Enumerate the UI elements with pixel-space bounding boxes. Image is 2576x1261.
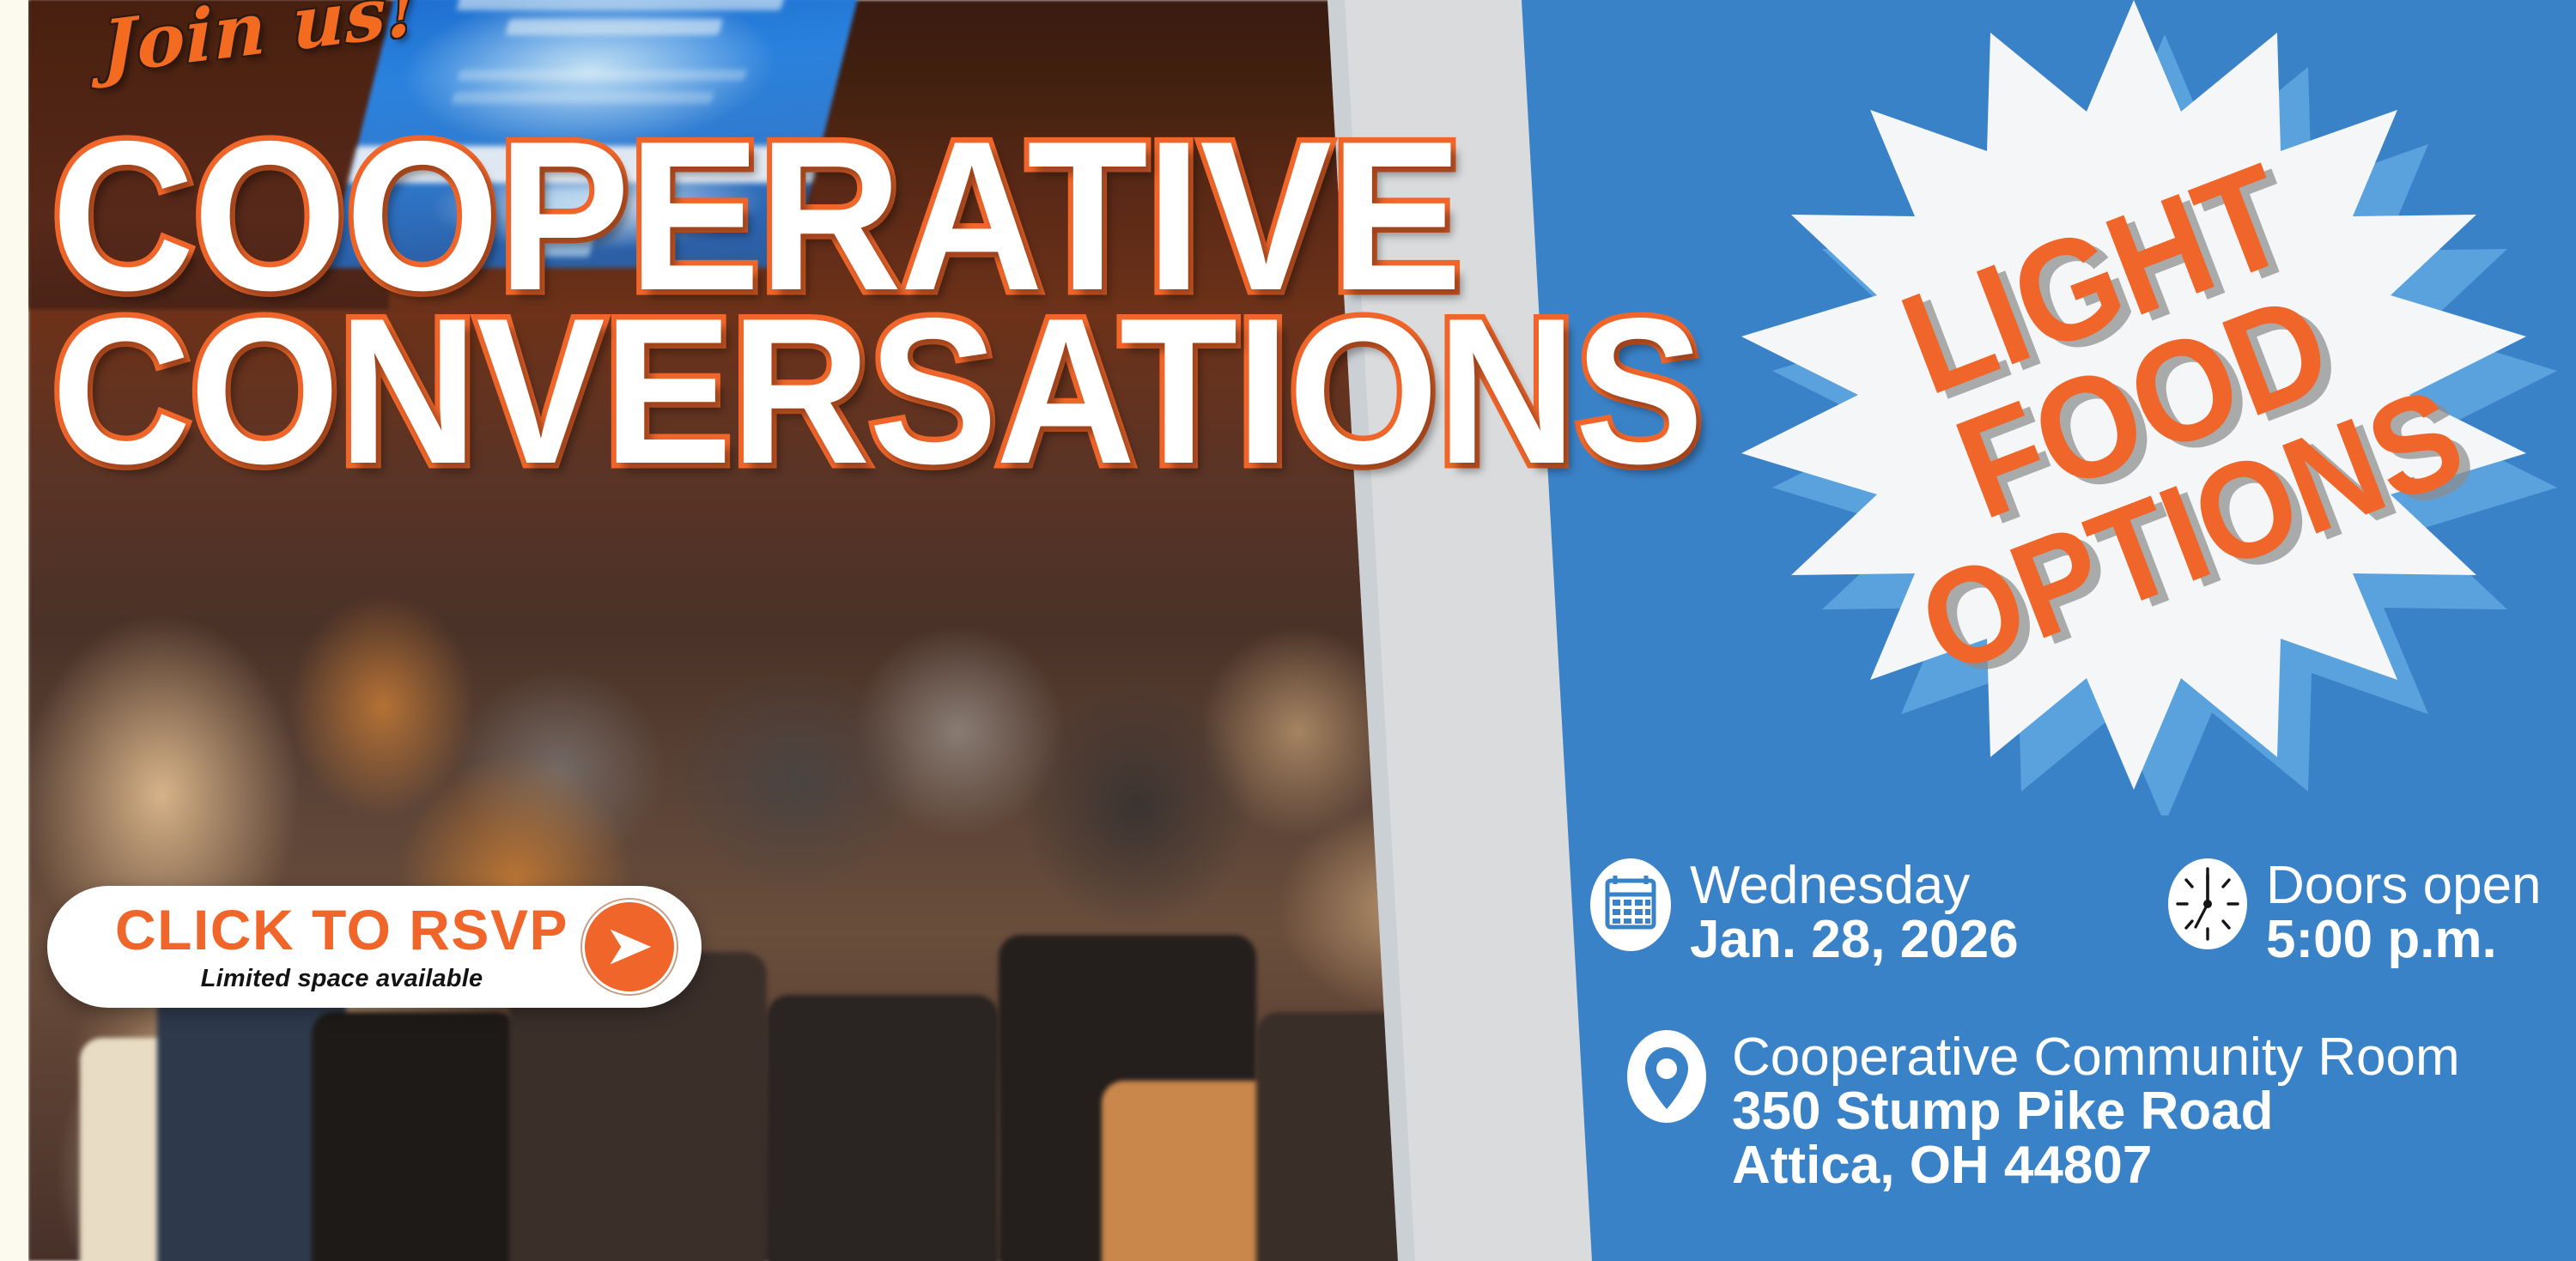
rsvp-button-text: CLICK TO RSVP Limited space available [47, 901, 585, 993]
detail-location: Cooperative Community Room 350 Stump Pik… [1627, 1030, 2460, 1193]
detail-location-text: Cooperative Community Room 350 Stump Pik… [1732, 1030, 2460, 1193]
detail-time: Doors open 5:00 p.m. [2168, 858, 2542, 967]
detail-date-value: Jan. 28, 2026 [1690, 912, 2019, 967]
detail-venue-name: Cooperative Community Room [1732, 1030, 2460, 1084]
detail-time-value: 5:00 p.m. [2266, 912, 2542, 967]
map-pin-icon [1627, 1030, 1706, 1127]
event-promo-banner: Join us! COOPERATIVE CONVERSATIONS CLICK… [0, 0, 2576, 1261]
headline-line-2: CONVERSATIONS [52, 305, 1702, 478]
detail-street-address: 350 Stump Pike Road [1732, 1084, 2460, 1138]
left-cream-border [0, 0, 28, 1261]
detail-date: Wednesday Jan. 28, 2026 [1590, 858, 2019, 967]
calendar-icon [1590, 858, 1671, 955]
detail-date-text: Wednesday Jan. 28, 2026 [1690, 858, 2019, 967]
audience-head [1256, 1012, 1505, 1261]
rsvp-button[interactable]: CLICK TO RSVP Limited space available [47, 886, 702, 1008]
send-arrow-icon[interactable] [585, 902, 674, 991]
detail-time-text: Doors open 5:00 p.m. [2266, 858, 2542, 967]
rsvp-button-label: CLICK TO RSVP [115, 901, 568, 958]
page-title: COOPERATIVE CONVERSATIONS [52, 127, 1826, 478]
detail-date-day: Wednesday [1690, 858, 2019, 912]
clock-icon [2168, 858, 2247, 954]
audience-head [767, 995, 999, 1261]
starburst-badge: LIGHT FOOD OPTIONS [1709, 0, 2576, 815]
rsvp-button-subtext: Limited space available [201, 965, 483, 993]
detail-city-state-zip: Attica, OH 44807 [1732, 1138, 2460, 1192]
audience-head [312, 1012, 518, 1261]
detail-time-label: Doors open [2266, 858, 2542, 912]
